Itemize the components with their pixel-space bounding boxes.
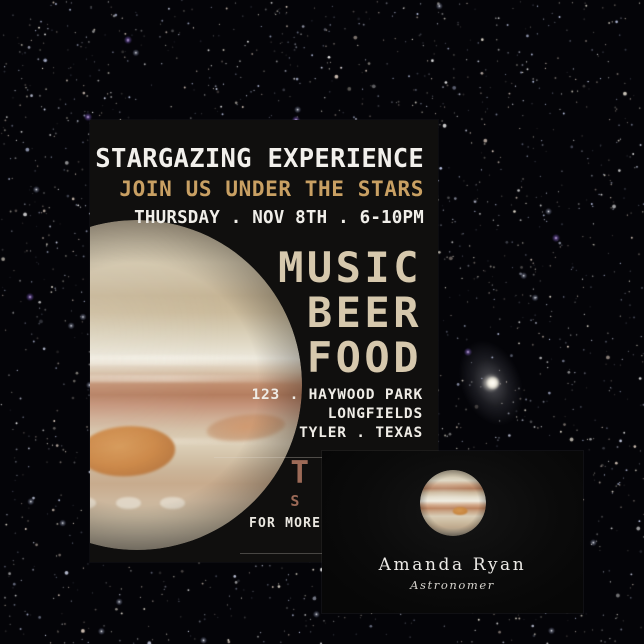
partial-glyph-main: T bbox=[290, 455, 310, 491]
poster-title: STARGAZING EXPERIENCE bbox=[90, 144, 424, 174]
poster-footer-text: FOR MORE bbox=[249, 516, 321, 531]
poster-headline: MUSIC BEER FOOD bbox=[278, 245, 422, 380]
jupiter-full-disk-image bbox=[420, 470, 486, 536]
poster-subtitle: JOIN US UNDER THE STARS bbox=[90, 177, 424, 201]
poster-partial-text: T S bbox=[290, 460, 310, 514]
headline-food: FOOD bbox=[278, 335, 422, 380]
astronomer-business-card[interactable]: Amanda Ryan Astronomer bbox=[322, 451, 583, 613]
headline-beer: BEER bbox=[278, 290, 422, 335]
address-line-3: TYLER . TEXAS bbox=[251, 424, 423, 443]
address-line-1: 123 . HAYWOOD PARK bbox=[251, 386, 423, 405]
card-person-name: Amanda Ryan bbox=[322, 555, 583, 575]
scene-stage: STARGAZING EXPERIENCE JOIN US UNDER THE … bbox=[0, 0, 644, 644]
partial-glyph-small: S bbox=[290, 488, 310, 514]
card-person-role: Astronomer bbox=[322, 578, 583, 592]
address-line-2: LONGFIELDS bbox=[251, 405, 423, 424]
headline-music: MUSIC bbox=[278, 245, 422, 290]
poster-address: 123 . HAYWOOD PARK LONGFIELDS TYLER . TE… bbox=[251, 386, 423, 443]
poster-date: THURSDAY . NOV 8TH . 6-10PM bbox=[90, 208, 424, 228]
